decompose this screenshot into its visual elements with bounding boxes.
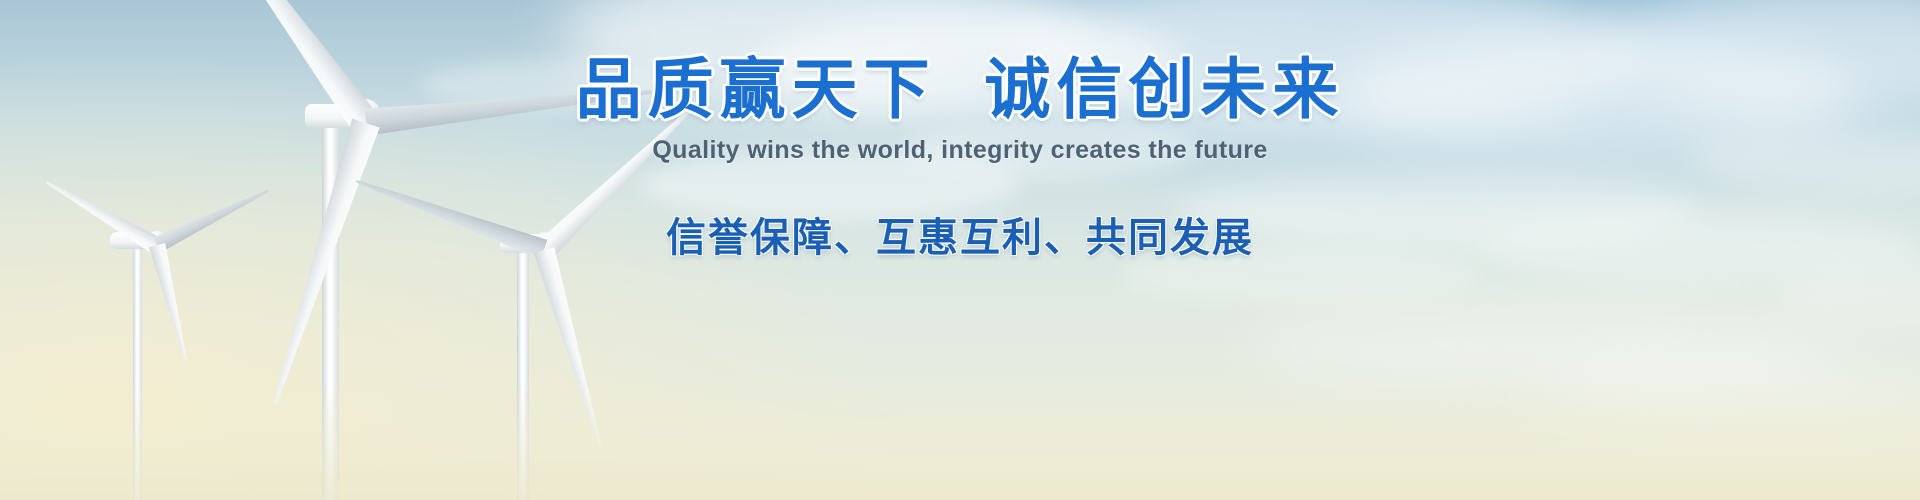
banner-copy: 品质赢天下 诚信创未来 Quality wins the world, inte… xyxy=(0,56,1920,263)
horizon-haze xyxy=(0,380,1920,500)
banner-slogan: 信誉保障、互惠互利、共同发展 xyxy=(0,205,1920,263)
banner-subtitle: Quality wins the world, integrity create… xyxy=(0,136,1920,165)
hero-banner: 品质赢天下 诚信创未来 Quality wins the world, inte… xyxy=(0,0,1920,500)
banner-headline: 品质赢天下 诚信创未来 xyxy=(0,56,1920,122)
